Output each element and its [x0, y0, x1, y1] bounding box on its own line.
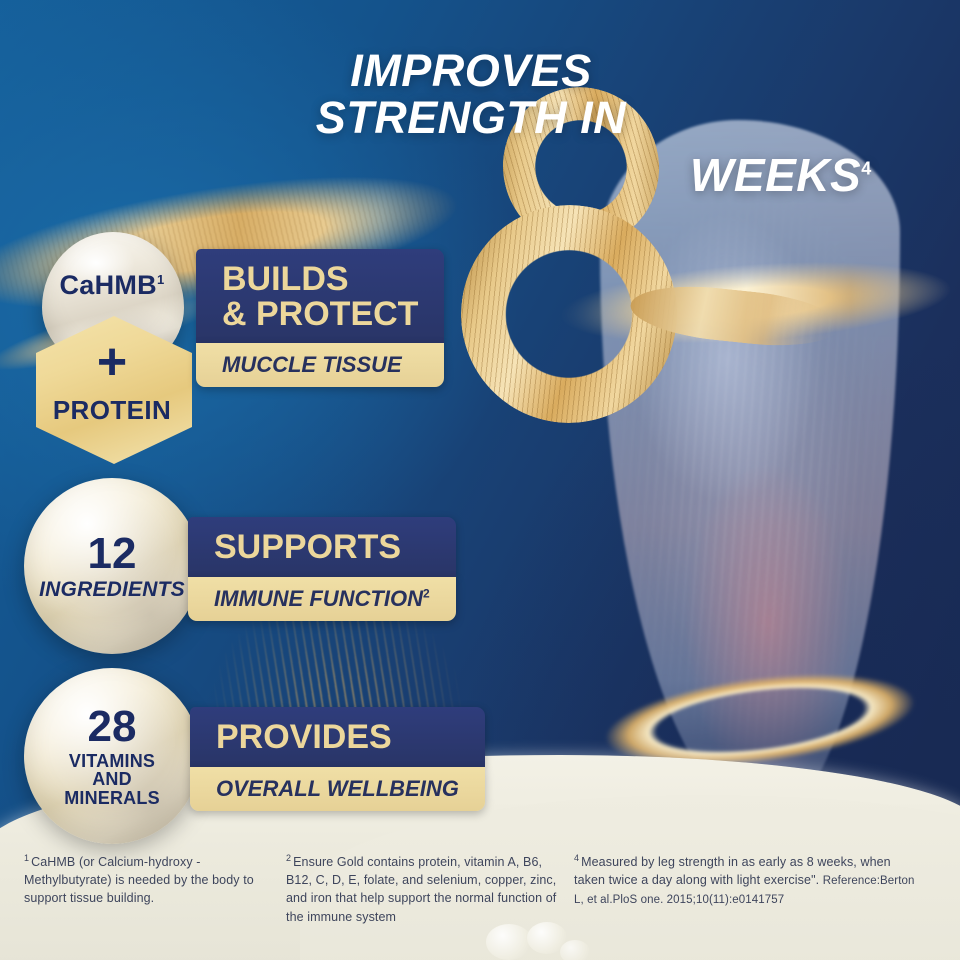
banner-subtitle: IMMUNE FUNCTION2: [188, 577, 456, 621]
milk-bubble: [560, 940, 590, 960]
footnote-1: 1CaHMB (or Calcium-hydroxy -Methylbutyra…: [24, 852, 270, 926]
headline-line-1: IMPROVES: [236, 48, 706, 95]
banner-subtitle: MUCCLE TISSUE: [196, 343, 444, 387]
banner-title: PROVIDES: [190, 707, 485, 767]
footnote-2-marker: 2: [286, 853, 291, 863]
muscle-fiber-texture: [600, 120, 900, 820]
ingredients-label: INGREDIENTS: [39, 579, 185, 600]
gold-ribbon-loop-calf: [552, 616, 960, 824]
footnote-1-marker: 1: [24, 853, 29, 863]
banner-title: SUPPORTS: [188, 517, 456, 577]
leg-glow: [585, 140, 915, 800]
milk-bubble: [486, 924, 532, 960]
banner-subtitle-text: IMMUNE FUNCTION: [214, 586, 423, 611]
banner-builds-protect: BUILDS & PROTECT MUCCLE TISSUE: [196, 249, 444, 387]
vitamins-label-line-1: VITAMINS: [64, 752, 160, 770]
banner-title: BUILDS & PROTECT: [196, 249, 444, 343]
banner-subtitle-footnote-marker: 2: [423, 587, 430, 601]
headline: IMPROVES STRENGTH IN: [236, 48, 706, 142]
footnote-2: 2Ensure Gold contains protein, vitamin A…: [286, 852, 558, 926]
cahmb-footnote-marker: 1: [157, 272, 165, 287]
vitamins-label-line-2: AND: [64, 770, 160, 788]
headline-line-2: STRENGTH IN: [236, 95, 706, 142]
banner-title-line-1: SUPPORTS: [214, 530, 430, 565]
weeks-text: WEEKS: [690, 149, 861, 201]
weeks-footnote-marker: 4: [861, 159, 872, 179]
vitamins-count: 28: [88, 705, 137, 749]
footnote-4-marker: 4: [574, 853, 579, 863]
milk-bubble: [527, 922, 567, 954]
footnote-2-text: Ensure Gold contains protein, vitamin A,…: [286, 855, 556, 923]
banner-title-line-1: PROVIDES: [216, 720, 459, 755]
badge-28-vitamins: 28 VITAMINS AND MINERALS: [24, 668, 200, 844]
feature-row-builds-protect: CaHMB1 + PROTEIN BUILDS & PROTECT MUCCLE…: [14, 232, 444, 432]
eight-ribbon-tail: [628, 279, 842, 353]
vitamins-label-line-3: MINERALS: [64, 789, 160, 807]
footnote-4: 4Measured by leg strength in as early as…: [574, 852, 924, 926]
badge-12-ingredients: 12 INGREDIENTS: [24, 478, 200, 654]
plus-icon: +: [14, 336, 210, 388]
gold-ribbon-swoosh-mid: [537, 240, 960, 365]
banner-supports: SUPPORTS IMMUNE FUNCTION2: [188, 517, 456, 621]
banner-title-line-1: BUILDS: [222, 262, 418, 297]
feature-row-provides-wellbeing: 28 VITAMINS AND MINERALS PROVIDES OVERAL…: [24, 668, 485, 844]
protein-label: PROTEIN: [14, 395, 210, 426]
weeks-label: WEEKS4: [690, 148, 872, 202]
eight-lower-loop: [447, 191, 691, 437]
banner-provides: PROVIDES OVERALL WELLBEING: [190, 707, 485, 811]
infographic-canvas: IMPROVES STRENGTH IN WEEKS4 CaHMB1 + PRO…: [0, 0, 960, 960]
feature-row-supports-immune: 12 INGREDIENTS SUPPORTS IMMUNE FUNCTION2: [24, 478, 456, 654]
footnote-1-text: CaHMB (or Calcium-hydroxy -Methylbutyrat…: [24, 855, 254, 905]
vitamins-label: VITAMINS AND MINERALS: [64, 752, 160, 807]
banner-title-line-2: & PROTECT: [222, 297, 418, 332]
cahmb-text: CaHMB: [59, 270, 157, 300]
badge-cahmb-protein: CaHMB1 + PROTEIN: [14, 232, 210, 432]
banner-subtitle: OVERALL WELLBEING: [190, 767, 485, 811]
droplet-label: CaHMB1: [14, 270, 210, 301]
muscle-leg-illustration: [600, 120, 900, 820]
ingredients-count: 12: [88, 532, 137, 576]
footnotes: 1CaHMB (or Calcium-hydroxy -Methylbutyra…: [24, 852, 940, 926]
